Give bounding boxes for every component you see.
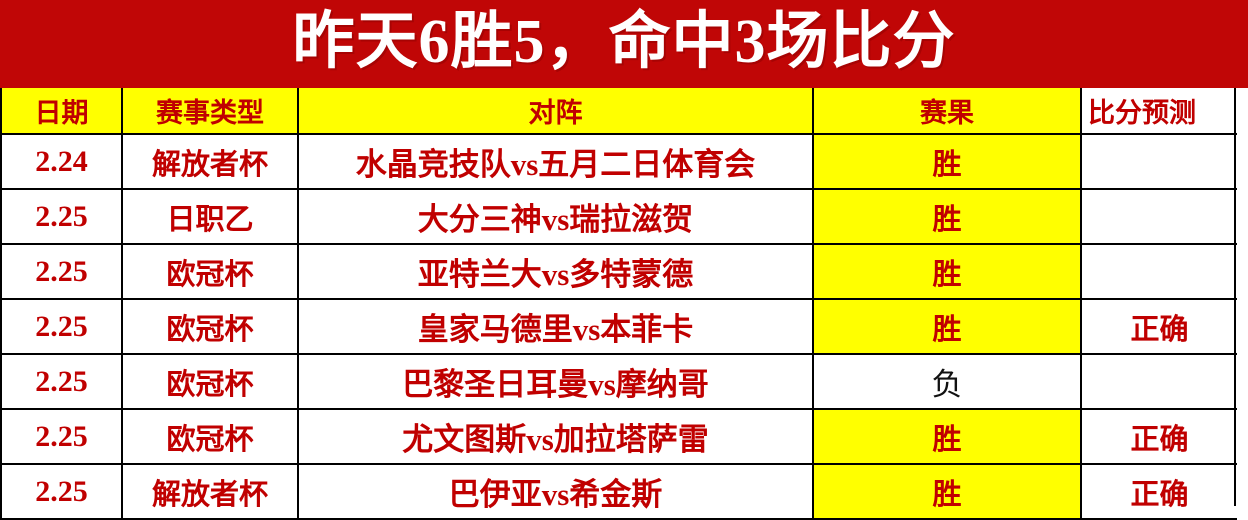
table-header: 日期 赛事类型 对阵 赛果 比分预测 [1,88,1237,134]
cell-match: 大分三神vs瑞拉滋贺 [298,189,813,244]
table-header-row: 日期 赛事类型 对阵 赛果 比分预测 [1,88,1237,134]
cell-result: 胜 [813,299,1081,354]
cell-date: 2.25 [1,409,122,464]
cell-league: 解放者杯 [122,464,298,519]
cell-date: 2.24 [1,134,122,189]
cell-match: 巴伊亚vs希金斯 [298,464,813,519]
column-header-prediction: 比分预测 [1081,88,1237,134]
table-row: 2.25 欧冠杯 皇家马德里vs本菲卡 胜 正确 [1,299,1237,354]
cell-league: 欧冠杯 [122,354,298,409]
cell-match: 皇家马德里vs本菲卡 [298,299,813,354]
column-header-date: 日期 [1,88,122,134]
cell-date: 2.25 [1,354,122,409]
table-row: 2.25 欧冠杯 尤文图斯vs加拉塔萨雷 胜 正确 [1,409,1237,464]
cell-prediction: 正确 [1081,299,1237,354]
table-row: 2.25 欧冠杯 巴黎圣日耳曼vs摩纳哥 负 [1,354,1237,409]
cell-prediction [1081,354,1237,409]
header-banner: 昨天6胜5，命中3场比分 [0,0,1248,88]
cell-prediction [1081,134,1237,189]
cell-prediction: 正确 [1081,409,1237,464]
table-right-border [1234,88,1236,506]
cell-result: 胜 [813,134,1081,189]
cell-league: 欧冠杯 [122,244,298,299]
cell-league: 欧冠杯 [122,409,298,464]
column-header-result: 赛果 [813,88,1081,134]
cell-match: 亚特兰大vs多特蒙德 [298,244,813,299]
cell-date: 2.25 [1,299,122,354]
column-header-match: 对阵 [298,88,813,134]
table-row: 2.25 欧冠杯 亚特兰大vs多特蒙德 胜 [1,244,1237,299]
banner-title: 昨天6胜5，命中3场比分 [292,11,955,73]
table-row: 2.25 日职乙 大分三神vs瑞拉滋贺 胜 [1,189,1237,244]
match-results-table: 日期 赛事类型 对阵 赛果 比分预测 2.24 解放者杯 水晶竞技队vs五月二日… [0,88,1237,520]
match-results-page: 昨天6胜5，命中3场比分 日期 赛事类型 对阵 赛果 比分预测 2.24 解放者… [0,0,1248,506]
cell-date: 2.25 [1,189,122,244]
cell-date: 2.25 [1,244,122,299]
table-row: 2.25 解放者杯 巴伊亚vs希金斯 胜 正确 [1,464,1237,519]
column-header-league: 赛事类型 [122,88,298,134]
cell-date: 2.25 [1,464,122,519]
cell-prediction [1081,244,1237,299]
cell-league: 解放者杯 [122,134,298,189]
cell-result: 负 [813,354,1081,409]
table-body: 2.24 解放者杯 水晶竞技队vs五月二日体育会 胜 2.25 日职乙 大分三神… [1,134,1237,519]
cell-prediction [1081,189,1237,244]
cell-match: 水晶竞技队vs五月二日体育会 [298,134,813,189]
cell-result: 胜 [813,409,1081,464]
table-row: 2.24 解放者杯 水晶竞技队vs五月二日体育会 胜 [1,134,1237,189]
cell-league: 日职乙 [122,189,298,244]
cell-match: 巴黎圣日耳曼vs摩纳哥 [298,354,813,409]
cell-result: 胜 [813,244,1081,299]
cell-result: 胜 [813,189,1081,244]
cell-match: 尤文图斯vs加拉塔萨雷 [298,409,813,464]
cell-prediction: 正确 [1081,464,1237,519]
cell-result: 胜 [813,464,1081,519]
cell-league: 欧冠杯 [122,299,298,354]
